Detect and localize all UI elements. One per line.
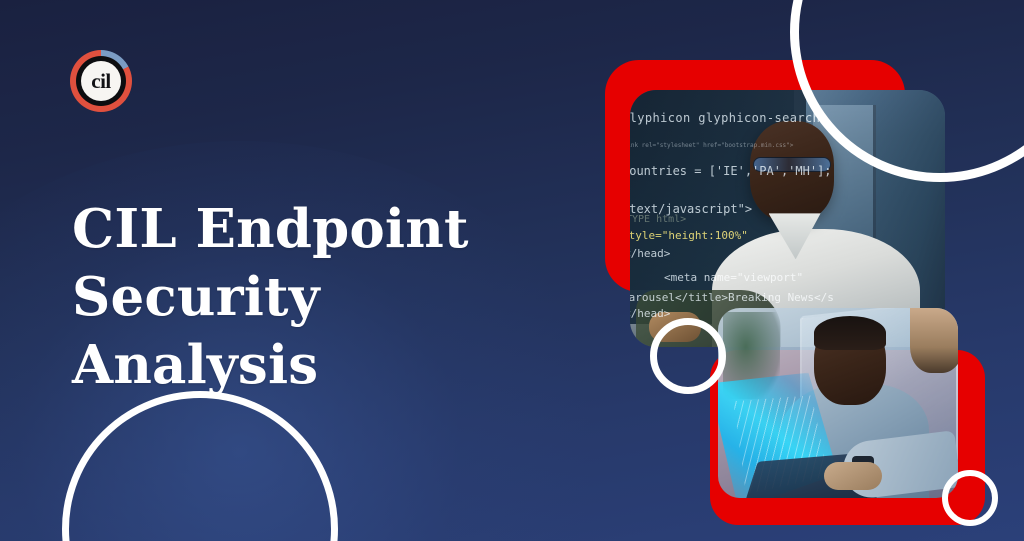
circle-outline-icon bbox=[942, 470, 998, 526]
photo-top-glasses bbox=[753, 157, 831, 172]
logo-wordmark: cil bbox=[81, 61, 121, 101]
banner: cil CIL Endpoint Security Analysis glyph… bbox=[0, 0, 1024, 541]
photo-bottom-hair bbox=[814, 316, 886, 350]
circle-outline-icon bbox=[62, 391, 338, 541]
cil-logo[interactable]: cil bbox=[68, 46, 134, 116]
photo-bottom-second-person bbox=[910, 308, 958, 373]
photo-laptop-user bbox=[718, 308, 958, 498]
page-title: CIL Endpoint Security Analysis bbox=[72, 196, 542, 399]
photo-bottom-hand bbox=[824, 462, 882, 490]
circle-outline-icon bbox=[650, 318, 726, 394]
